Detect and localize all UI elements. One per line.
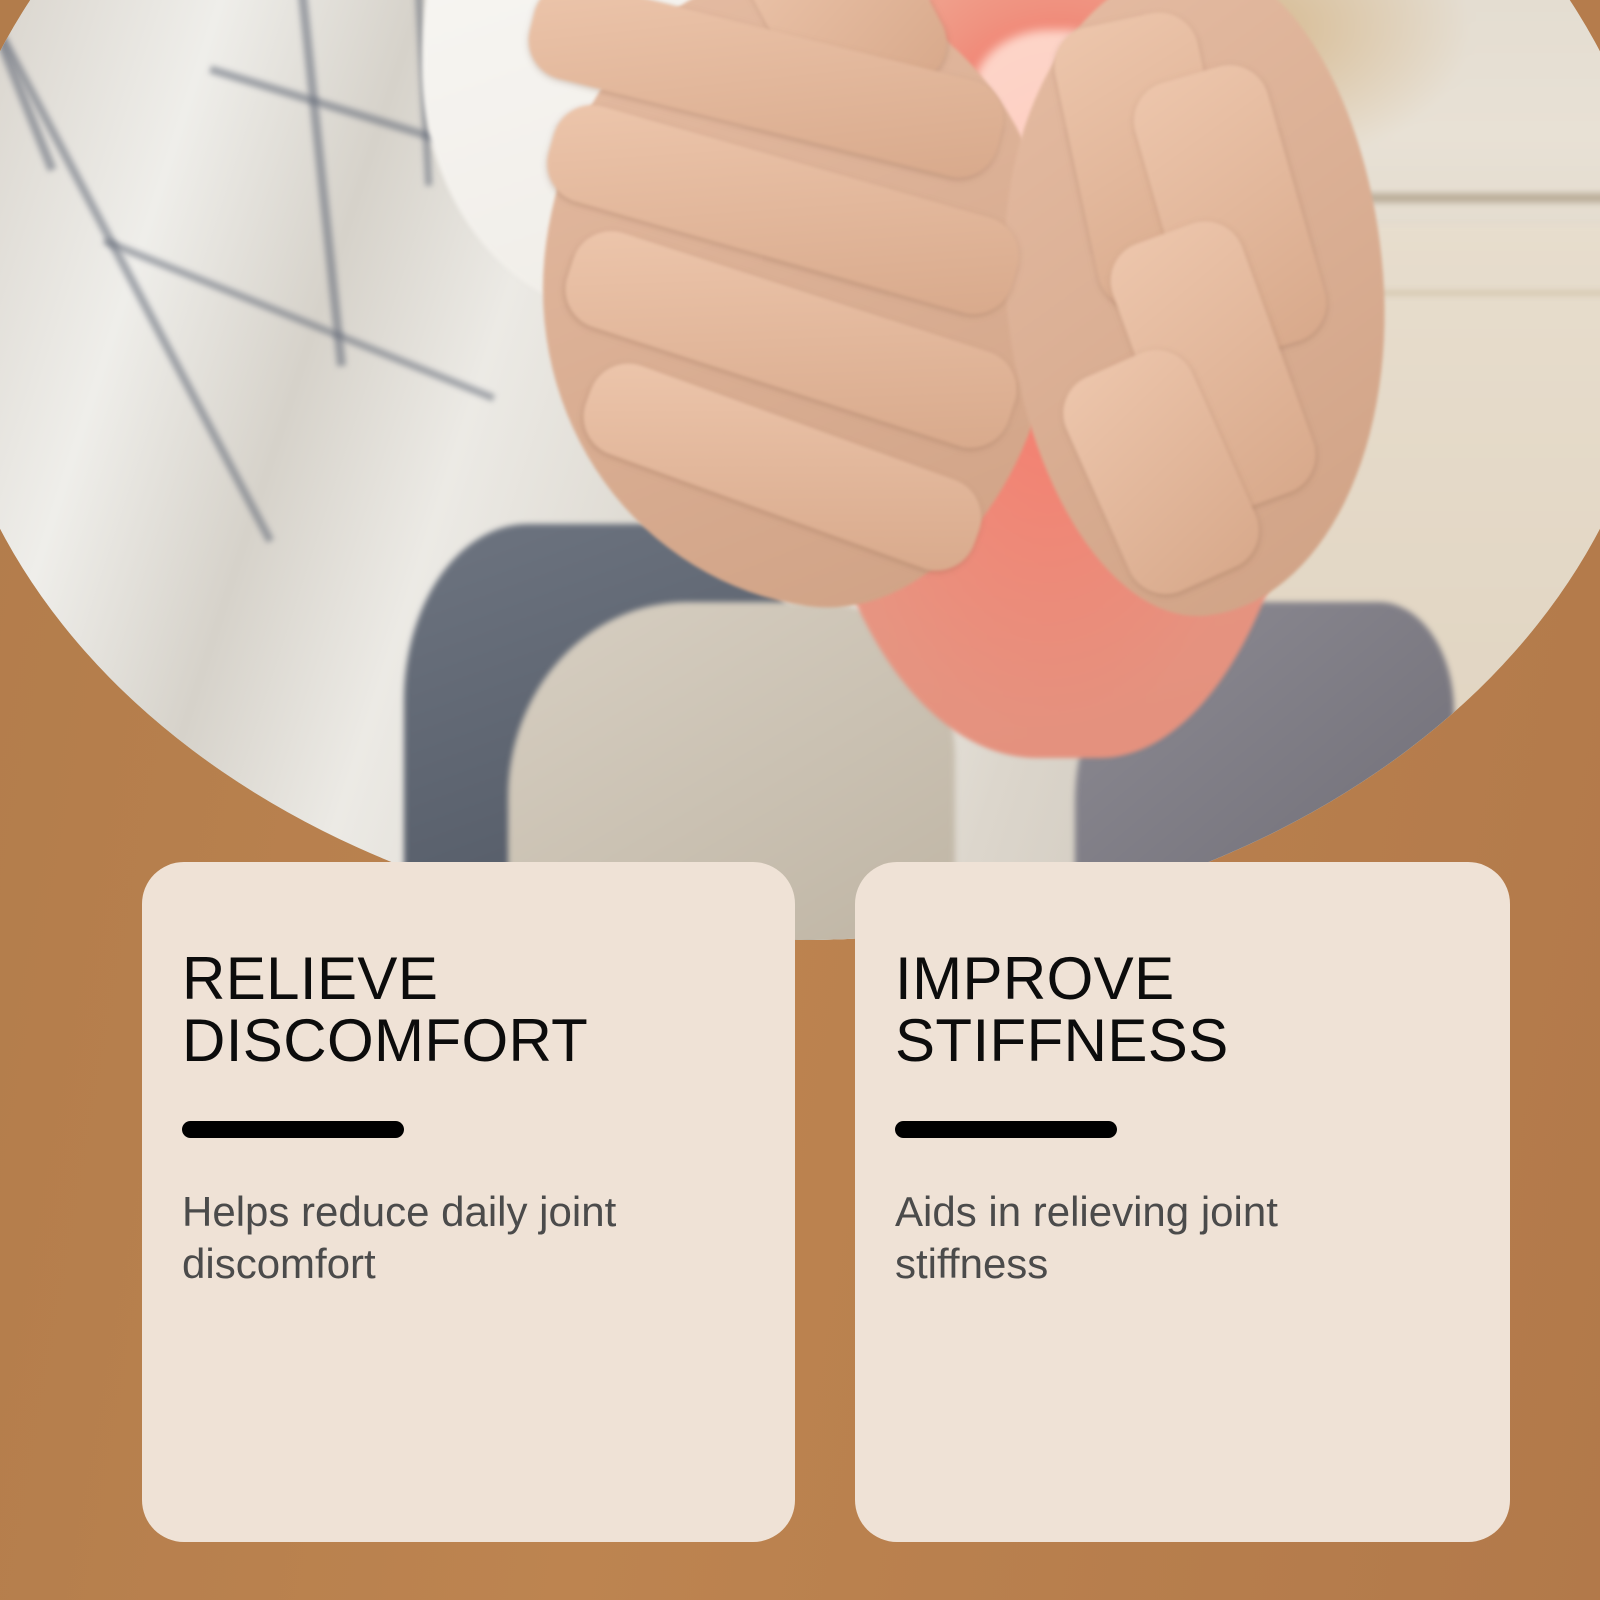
card-body-text: Helps reduce daily joint discomfort xyxy=(182,1186,702,1290)
card-divider-rule xyxy=(182,1121,404,1138)
benefit-card-relieve-discomfort[interactable]: RELIEVE DISCOMFORT Helps reduce daily jo… xyxy=(142,862,795,1542)
card-title: IMPROVE STIFFNESS xyxy=(895,948,1464,1073)
card-divider-rule xyxy=(895,1121,1117,1138)
poster-canvas: RELIEVE DISCOMFORT Helps reduce daily jo… xyxy=(0,0,1600,1600)
card-title: RELIEVE DISCOMFORT xyxy=(182,948,749,1073)
benefit-card-group: RELIEVE DISCOMFORT Helps reduce daily jo… xyxy=(0,0,1600,1600)
card-body-text: Aids in relieving joint stiffness xyxy=(895,1186,1375,1290)
benefit-card-improve-stiffness[interactable]: IMPROVE STIFFNESS Aids in relieving join… xyxy=(855,862,1510,1542)
